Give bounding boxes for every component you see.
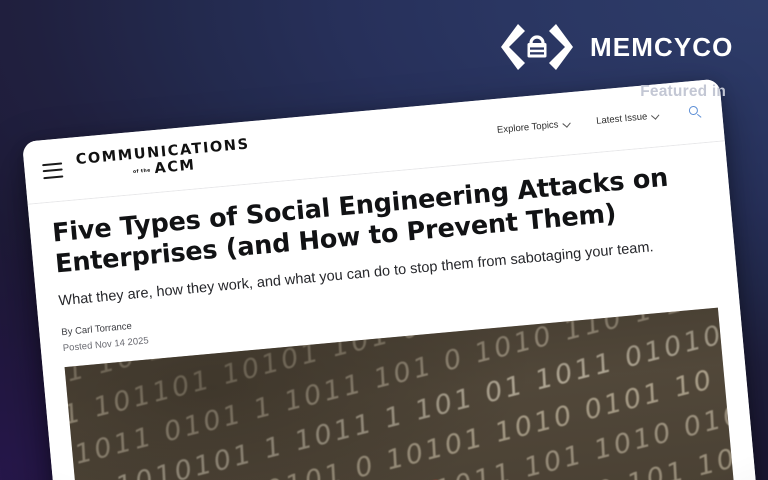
brand-wordmark: MEMCYCO (590, 34, 733, 60)
search-icon[interactable] (688, 105, 702, 119)
nav-explore-topics-label: Explore Topics (497, 119, 559, 136)
acm-logo-line2: ACM (154, 158, 196, 176)
featured-in-label: Featured in (498, 83, 748, 101)
nav-latest-issue-label: Latest Issue (596, 111, 648, 127)
acm-browser-card: COMMUNICATIONS of the ACM Explore Topics… (22, 79, 758, 480)
hamburger-menu-icon[interactable] (42, 162, 63, 179)
memcyco-brand-block: MEMCYCO Featured in (498, 22, 748, 102)
nav-latest-issue[interactable]: Latest Issue (596, 110, 660, 127)
acm-logo[interactable]: COMMUNICATIONS of the ACM (75, 137, 251, 183)
acm-logo-of-the: of the (133, 170, 151, 178)
chevron-down-icon (563, 120, 571, 128)
chevron-down-icon (652, 112, 660, 120)
nav-explore-topics[interactable]: Explore Topics (497, 118, 571, 136)
chevron-lock-diamond-icon (498, 22, 576, 72)
browser-card-wrapper: COMMUNICATIONS of the ACM Explore Topics… (22, 79, 758, 480)
site-nav: Explore Topics Latest Issue (496, 104, 706, 136)
brand-lockup: MEMCYCO (498, 22, 748, 72)
